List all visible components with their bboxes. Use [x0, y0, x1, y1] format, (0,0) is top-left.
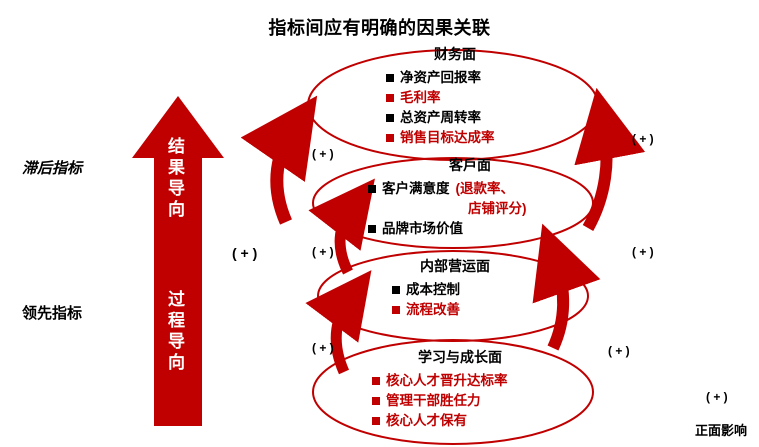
perspective-title-finance: 财务面 — [340, 44, 570, 64]
perspective-internal: 内部营运面 成本控制 流程改善 — [340, 256, 570, 320]
metric-item: 总资产周转率 — [386, 108, 570, 128]
bottom-note: 正面影响 — [695, 420, 747, 439]
bullet-square-icon — [386, 114, 394, 122]
label-lagging-indicator: 滞后指标 — [22, 157, 82, 178]
perspective-finance: 财务面 净资产回报率 毛利率 总资产周转率 销售目标达成率 — [340, 44, 570, 148]
bullet-square-icon — [368, 185, 376, 193]
label-leading-indicator: 领先指标 — [22, 302, 82, 323]
perspective-customer: 客戶面 客户满意度 (退款率、 店铺评分) 品牌市场价值 — [340, 155, 600, 239]
metric-item: 核心人才晋升达标率 — [372, 371, 580, 391]
plus-sign: ( + ) — [312, 147, 334, 161]
bullet-square-icon — [392, 286, 400, 294]
bullet-square-icon — [372, 377, 380, 385]
plus-sign: ( + ) — [706, 390, 728, 404]
metric-item: 管理干部胜任力 — [372, 391, 580, 411]
bullet-square-icon — [372, 417, 380, 425]
metric-item: 品牌市场价值 — [368, 219, 600, 239]
plus-sign: ( + ) — [608, 344, 630, 358]
bullet-square-icon — [392, 306, 400, 314]
metric-item: 销售目标达成率 — [386, 128, 570, 148]
plus-sign: ( + ) — [312, 245, 334, 259]
metric-item: 流程改善 — [392, 300, 570, 320]
diagram-canvas: 指标间应有明确的因果关联 结果导向 过程导向 滞后指标 领先指标 财务面 — [0, 0, 759, 447]
plus-sign: ( + ) — [312, 341, 334, 355]
metric-item: 成本控制 — [392, 280, 570, 300]
arrow-label-result: 结果导向 — [160, 136, 194, 220]
perspective-title-customer: 客戶面 — [340, 155, 600, 175]
bullet-square-icon — [386, 134, 394, 142]
bullet-square-icon — [386, 74, 394, 82]
bullet-square-icon — [368, 225, 376, 233]
metric-item: 毛利率 — [386, 88, 570, 108]
plus-sign: ( + ) — [632, 245, 654, 259]
perspective-learning: 学习与成长面 核心人才晋升达标率 管理干部胜任力 核心人才保有 — [340, 347, 580, 431]
plus-sign: ( + ) — [232, 245, 257, 261]
metric-item: 客户满意度 (退款率、 — [368, 179, 600, 199]
arrow-customer-to-finance — [277, 132, 292, 222]
arrow-label-process: 过程导向 — [160, 289, 194, 373]
metric-suffix: (退款率、 — [456, 179, 515, 199]
plus-sign: ( + ) — [632, 132, 654, 146]
metric-item: 店铺评分) — [368, 199, 600, 219]
perspective-title-internal: 内部营运面 — [340, 256, 570, 276]
bullet-square-icon — [372, 397, 380, 405]
perspective-title-learning: 学习与成长面 — [340, 347, 580, 367]
metric-item: 核心人才保有 — [372, 411, 580, 431]
metric-item: 净资产回报率 — [386, 68, 570, 88]
bullet-square-icon — [386, 94, 394, 102]
